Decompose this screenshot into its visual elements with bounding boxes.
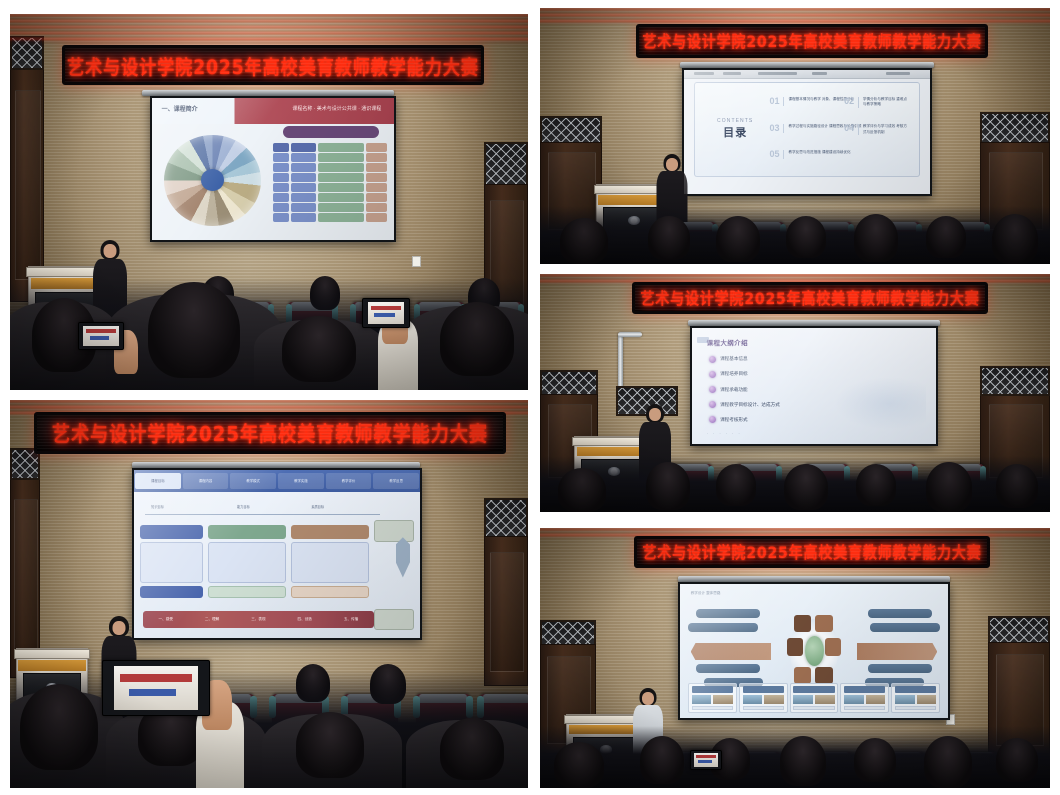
- audience-head-foreground: [282, 316, 356, 382]
- audience-head: [856, 464, 896, 506]
- slide-tab: 教学实施: [278, 473, 324, 488]
- projection-screen-top-right: CONTENTS 目录 01 课程基本情况与教学 对象、课程性质分析 02: [682, 68, 932, 196]
- lecture-hall-scene: 艺术与设计学院2025年高校美育教师教学能力大赛 教学设计 整体思路: [540, 528, 1050, 788]
- footer-mark: ·: [713, 431, 714, 436]
- transom-lattice-far-right: [980, 366, 1050, 396]
- flow-box-body: [140, 542, 203, 582]
- slide-tab: 教学评价: [326, 473, 372, 488]
- outline-bullet: 课程承载功能: [709, 386, 748, 393]
- slide-app-toolbar: [684, 70, 930, 79]
- photo-collage: 艺术与设计学院2025年高校美育教师教学能力大赛 一、课程简介 课程名称 · 美…: [0, 0, 1060, 795]
- slide-tab: 教学反思: [373, 473, 419, 488]
- slide-footer-ribbon: [684, 187, 930, 194]
- slide-course-objectives: 课程目标 课程内容 教学模式 教学实施 教学评价 教学反思 知识目标 能力目标 …: [134, 470, 420, 638]
- contents-item-text: 教学评价与学习成效 考核方式与反馈机制: [863, 124, 910, 134]
- audience-head-foreground: [296, 712, 364, 778]
- flow-box-footer: [140, 586, 203, 598]
- slide-footer-marks: · · · · · ·: [707, 431, 740, 436]
- flow-box-header: [140, 525, 203, 538]
- audience-head: [924, 736, 972, 788]
- hub-segment: [794, 615, 811, 632]
- wall-pipe: [618, 332, 642, 337]
- contents-item: 02 学情分析与教学目标 重难点与教学策略: [844, 97, 910, 107]
- hub-segment: [825, 638, 841, 657]
- bullet-icon: [709, 371, 716, 378]
- bullet-icon: [709, 401, 716, 408]
- banner-light-spill: [10, 14, 528, 44]
- contents-item: 05 教学反思与改进措施 课程建设持续优化: [769, 150, 850, 159]
- led-banner-mid-right: 艺术与设计学院2025年高校美育教师教学能力大赛: [632, 282, 988, 314]
- slide-pill-label: [283, 126, 380, 137]
- flow-box-footer: [208, 586, 285, 598]
- slide-header-bar: 一、课程简介 课程名称 · 美术与设计公共课 · 通识课程: [152, 98, 394, 124]
- audience-head-foreground: [148, 282, 240, 378]
- contents-item-number: 02: [844, 97, 854, 106]
- chain-step: 二、理解: [205, 617, 219, 622]
- led-banner-bottom-left: 艺术与设计学院2025年高校美育教师教学能力大赛: [34, 412, 506, 454]
- module-table: [273, 143, 387, 223]
- hub-segment: [815, 615, 832, 632]
- audience-head: [996, 738, 1038, 782]
- outline-bullet: 课程教学目标设计、达成方式: [709, 401, 780, 408]
- slide-tab: 教学模式: [230, 473, 276, 488]
- right-caption: [868, 664, 932, 673]
- card-group: [891, 683, 940, 712]
- shield-icon: [396, 537, 410, 577]
- lecture-hall-scene: 艺术与设计学院2025年高校美育教师教学能力大赛 一、课程简介 课程名称 · 美…: [10, 14, 528, 390]
- outline-bullet-text: 课程培养目标: [720, 371, 748, 377]
- led-banner-text: 艺术与设计学院2025年高校美育教师教学能力大赛: [642, 30, 981, 53]
- smartphone-screen: [78, 322, 124, 350]
- contents-item: 01 课程基本情况与教学 对象、课程性质分析: [769, 97, 854, 106]
- audience-head: [992, 214, 1038, 264]
- side-summary-box: [374, 609, 414, 629]
- audience-head: [786, 216, 826, 258]
- hub-segment: [794, 667, 811, 684]
- slide-watermark: [834, 377, 927, 430]
- hub-segment: [787, 638, 803, 657]
- side-door-right: [484, 536, 528, 686]
- audience-head: [646, 462, 690, 510]
- projection-screen-top-left: 一、课程简介 课程名称 · 美术与设计公共课 · 通识课程: [150, 96, 396, 242]
- audience-head: [784, 464, 828, 510]
- led-banner-top-left: 艺术与设计学院2025年高校美育教师教学能力大赛: [62, 45, 484, 85]
- led-banner-text: 艺术与设计学院2025年高校美育教师教学能力大赛: [52, 418, 488, 448]
- audience-head: [558, 468, 606, 512]
- left-caption: [688, 623, 758, 632]
- projection-screen-bottom-left: 课程目标 课程内容 教学模式 教学实施 教学评价 教学反思 知识目标 能力目标 …: [132, 468, 422, 640]
- audience-head: [854, 738, 896, 782]
- footer-mark: ·: [732, 431, 733, 436]
- wall-pipe: [618, 334, 623, 390]
- outline-bullet-text: 课程考核形式: [720, 417, 748, 423]
- contents-item-number: 03: [769, 124, 779, 133]
- led-banner-bottom-right: 艺术与设计学院2025年高校美育教师教学能力大赛: [634, 536, 990, 568]
- bottom-chain: 一、感受 二、理解 三、表现 四、创造 五、传播: [143, 611, 375, 628]
- flow-axis: [145, 514, 380, 515]
- audience-head: [716, 216, 760, 262]
- contents-item-text: 学情分析与教学目标 重难点与教学策略: [863, 97, 910, 107]
- contents-item-number: 05: [769, 150, 779, 159]
- wall-switch: [412, 256, 421, 267]
- collage-panel-top-right: 艺术与设计学院2025年高校美育教师教学能力大赛 CONTENTS 目录: [540, 8, 1050, 264]
- contents-item: 04 教学评价与学习成效 考核方式与反馈机制: [844, 124, 910, 134]
- outline-bullet-text: 课程教学目标设计、达成方式: [720, 402, 780, 408]
- tablet-screen: [102, 660, 210, 716]
- slide-title: 课程大纲介绍: [707, 337, 748, 347]
- slide-course-intro: 一、课程简介 课程名称 · 美术与设计公共课 · 通识课程: [152, 98, 394, 240]
- outline-bullet: 课程培养目标: [709, 371, 748, 378]
- bottom-card-strip: [688, 683, 940, 712]
- footer-mark: ·: [726, 431, 727, 436]
- contents-label-group: CONTENTS 目录: [708, 118, 762, 140]
- left-caption: [696, 609, 760, 618]
- card-group: [688, 683, 737, 712]
- flow-box-footer: [291, 586, 368, 598]
- audience-head: [926, 216, 966, 258]
- stage-label: 能力目标: [237, 504, 250, 509]
- led-banner-text: 艺术与设计学院2025年高校美育教师教学能力大赛: [640, 287, 979, 310]
- transom-lattice-right: [980, 112, 1050, 146]
- audience-head: [554, 742, 604, 788]
- led-banner-top-right: 艺术与设计学院2025年高校美育教师教学能力大赛: [636, 24, 988, 58]
- outline-bullet: 课程基本信息: [709, 356, 748, 363]
- slide-title: 一、课程简介: [162, 104, 198, 113]
- lecture-hall-scene: 艺术与设计学院2025年高校美育教师教学能力大赛 课程目标 课程内容 教学模式 …: [10, 400, 528, 788]
- collage-panel-mid-right: 艺术与设计学院2025年高校美育教师教学能力大赛 课程大纲介绍 课程基本信息 课…: [540, 274, 1050, 512]
- contents-item-text: 教学反思与改进措施 课程建设持续优化: [788, 150, 850, 155]
- led-banner-text: 艺术与设计学院2025年高校美育教师教学能力大赛: [642, 541, 981, 564]
- contents-items: 01 课程基本情况与教学 对象、课程性质分析 02 学情分析与教学目标 重难点与…: [767, 93, 911, 169]
- projection-screen-mid-right: 课程大纲介绍 课程基本信息 课程培养目标 课程承载功能: [690, 326, 938, 446]
- banner-light-spill: [540, 8, 1050, 24]
- audience-head: [716, 464, 756, 506]
- audience-head: [996, 464, 1038, 508]
- audience-head: [926, 462, 972, 512]
- card-group: [840, 683, 889, 712]
- hub-segment: [815, 667, 832, 684]
- card-group: [739, 683, 788, 712]
- flow-box-header: [208, 525, 285, 538]
- slide-teaching-design: 教学设计 整体思路: [680, 584, 948, 718]
- audience-head: [648, 216, 690, 260]
- audience-head-foreground: [440, 718, 504, 780]
- slide-tab-bar: 课程目标 课程内容 教学模式 教学实施 教学评价 教学反思: [134, 470, 420, 492]
- outline-bullet: 课程考核形式: [709, 416, 748, 423]
- smartphone-screen: [690, 750, 722, 770]
- bullet-icon: [709, 386, 716, 393]
- audience-head-foreground: [440, 302, 514, 376]
- slide-tab: 课程目标: [135, 473, 181, 488]
- card-group: [790, 683, 839, 712]
- flow-box-body: [208, 542, 285, 582]
- chain-step: 五、传播: [344, 617, 358, 622]
- projection-screen-bottom-right: 教学设计 整体思路: [678, 582, 950, 720]
- side-summary-box: [374, 520, 414, 542]
- slide-contents: CONTENTS 目录 01 课程基本情况与教学 对象、课程性质分析 02: [684, 70, 930, 194]
- slide-title: 教学设计 整体思路: [691, 591, 721, 596]
- left-caption: [696, 664, 760, 673]
- audience-head: [854, 214, 898, 262]
- footer-mark: ·: [738, 431, 739, 436]
- slide-tab: 课程内容: [183, 473, 229, 488]
- audience-head: [560, 218, 608, 264]
- radial-wheel-diagram: [164, 135, 261, 226]
- collage-panel-top-left: 艺术与设计学院2025年高校美育教师教学能力大赛 一、课程简介 课程名称 · 美…: [10, 14, 528, 390]
- outline-bullet-text: 课程承载功能: [720, 387, 748, 393]
- slide-frame: CONTENTS 目录 01 课程基本情况与教学 对象、课程性质分析 02: [694, 82, 920, 176]
- stage-label: 素质目标: [311, 504, 324, 509]
- contents-item-number: 01: [769, 97, 779, 106]
- contents-cn-label: 目录: [708, 124, 762, 140]
- transom-lattice-right: [484, 142, 528, 186]
- smartphone-screen: [362, 298, 410, 328]
- collage-panel-bottom-left: 艺术与设计学院2025年高校美育教师教学能力大赛 课程目标 课程内容 教学模式 …: [10, 400, 528, 788]
- audience-head-foreground: [20, 684, 98, 770]
- lecture-hall-scene: 艺术与设计学院2025年高校美育教师教学能力大赛 课程大纲介绍 课程基本信息 课…: [540, 274, 1050, 512]
- hub-core-label: [805, 636, 824, 665]
- collage-panel-bottom-right: 艺术与设计学院2025年高校美育教师教学能力大赛 教学设计 整体思路: [540, 528, 1050, 788]
- flow-box-body: [291, 542, 368, 582]
- bullet-icon: [709, 416, 716, 423]
- slide-header-subtitle: 课程名称 · 美术与设计公共课 · 通识课程: [292, 105, 381, 112]
- lecture-hall-scene: 艺术与设计学院2025年高校美育教师教学能力大赛 CONTENTS 目录: [540, 8, 1050, 264]
- right-caption: [870, 623, 940, 632]
- transom-lattice-right: [484, 498, 528, 538]
- footer-mark: ·: [719, 431, 720, 436]
- outline-bullet-text: 课程基本信息: [720, 356, 748, 362]
- chain-step: 三、表现: [251, 617, 265, 622]
- flow-box-header: [291, 525, 368, 538]
- footer-mark: ·: [707, 431, 708, 436]
- slide-course-outline: 课程大纲介绍 课程基本信息 课程培养目标 课程承载功能: [692, 328, 936, 444]
- right-caption: [868, 609, 932, 618]
- bullet-icon: [709, 356, 716, 363]
- chain-step: 四、创造: [298, 617, 312, 622]
- left-arrow: [691, 643, 771, 660]
- chain-step: 一、感受: [159, 617, 173, 622]
- stage-label: 知识目标: [151, 504, 164, 509]
- audience-head: [640, 736, 684, 784]
- audience-head: [780, 736, 826, 786]
- right-arrow: [857, 643, 937, 660]
- contents-item-number: 04: [844, 124, 854, 133]
- led-banner-text: 艺术与设计学院2025年高校美育教师教学能力大赛: [67, 51, 479, 80]
